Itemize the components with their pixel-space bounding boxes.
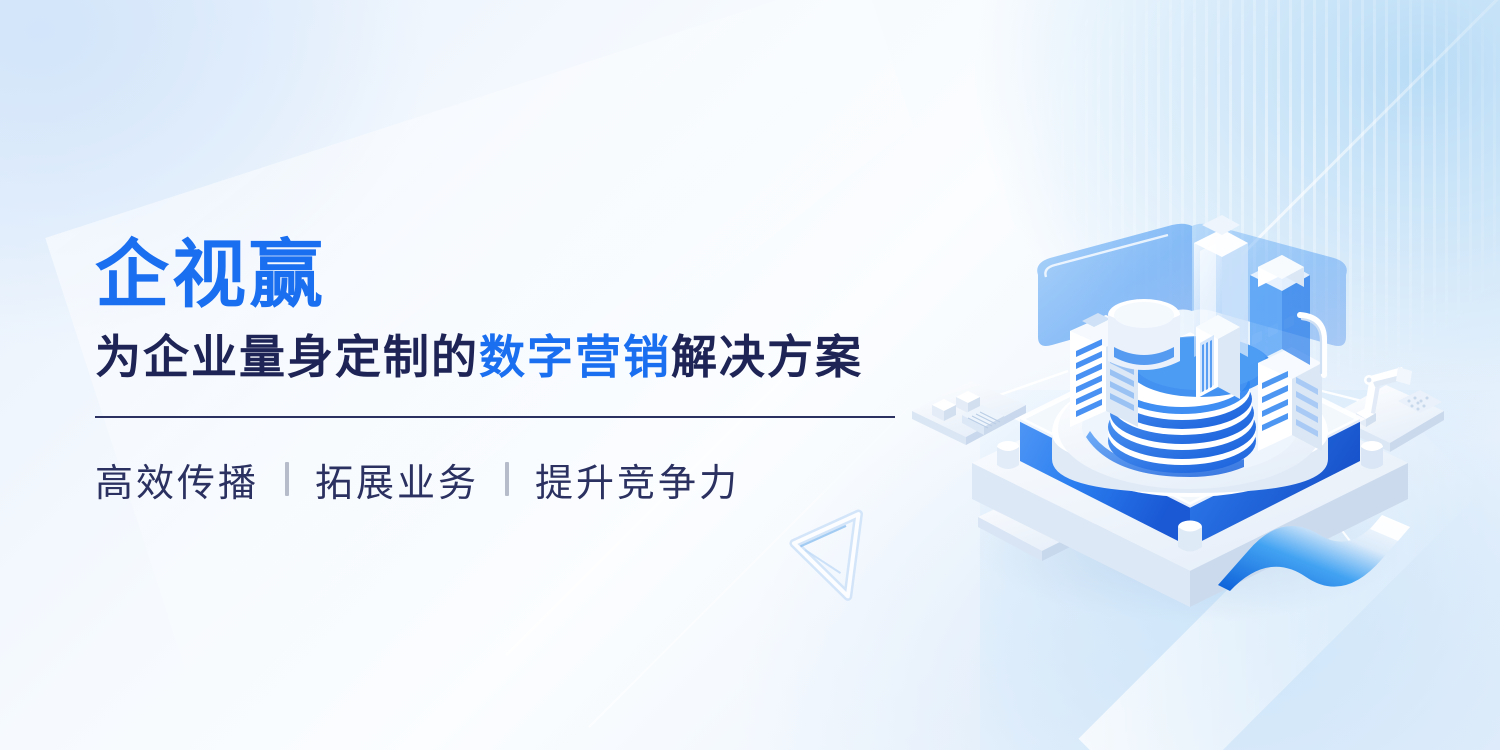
tower-stepped-right (1258, 347, 1322, 451)
tower-ribbed-mid (1196, 315, 1240, 399)
banner-tagline: 高效传播 拓展业务 提升竞争力 (95, 452, 905, 507)
tagline-separator-icon (505, 462, 509, 496)
marketing-banner: 企视赢 为企业量身定制的数字营销解决方案 高效传播 拓展业务 提升竞争力 (0, 0, 1500, 750)
cylinder-tank (1108, 299, 1180, 370)
tagline-item-2: 拓展业务 (315, 452, 479, 507)
tagline-separator-icon (285, 462, 289, 496)
isometric-city-platform-illustration (900, 215, 1460, 655)
brand-title: 企视赢 (95, 236, 905, 314)
tagline-item-3: 提升竞争力 (535, 452, 740, 507)
banner-subtitle: 为企业量身定制的数字营销解决方案 (95, 330, 905, 385)
banner-copy-block: 企视赢 为企业量身定制的数字营销解决方案 高效传播 拓展业务 提升竞争力 (95, 236, 905, 507)
subtitle-tail-text: 解决方案 (671, 331, 863, 383)
subtitle-lead-text: 为企业量身定制的 (95, 331, 479, 383)
horizontal-divider (95, 416, 895, 418)
subtitle-highlight-text: 数字营销 (479, 331, 671, 383)
tagline-item-1: 高效传播 (95, 452, 259, 507)
